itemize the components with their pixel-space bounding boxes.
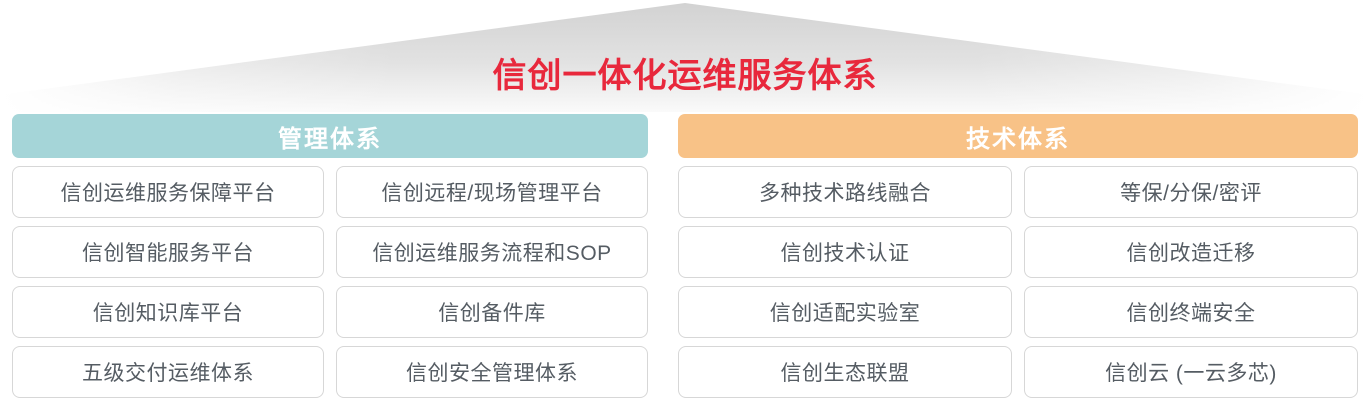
cell-item[interactable]: 等保/分保/密评 [1024,166,1358,218]
panel-technology: 技术体系 多种技术路线融合 等保/分保/密评 信创技术认证 信创改造迁移 信创适… [660,114,1370,398]
cell-item[interactable]: 信创云 (一云多芯) [1024,346,1358,398]
cell-item[interactable]: 信创技术认证 [678,226,1012,278]
panel-management: 管理体系 信创运维服务保障平台 信创远程/现场管理平台 信创智能服务平台 信创运… [0,114,660,398]
cell-item[interactable]: 信创终端安全 [1024,286,1358,338]
cell-item[interactable]: 多种技术路线融合 [678,166,1012,218]
panel-header-management: 管理体系 [12,114,648,158]
cell-item[interactable]: 信创运维服务流程和SOP [336,226,648,278]
cell-item[interactable]: 信创运维服务保障平台 [12,166,324,218]
cell-item[interactable]: 信创智能服务平台 [12,226,324,278]
cell-item[interactable]: 信创生态联盟 [678,346,1012,398]
page-title: 信创一体化运维服务体系 [0,54,1370,98]
cell-item[interactable]: 信创远程/现场管理平台 [336,166,648,218]
cell-item[interactable]: 信创备件库 [336,286,648,338]
cell-item[interactable]: 信创改造迁移 [1024,226,1358,278]
cell-grid-management: 信创运维服务保障平台 信创远程/现场管理平台 信创智能服务平台 信创运维服务流程… [12,166,648,398]
cell-item[interactable]: 信创安全管理体系 [336,346,648,398]
systems-container: 管理体系 信创运维服务保障平台 信创远程/现场管理平台 信创智能服务平台 信创运… [0,114,1370,418]
cell-item[interactable]: 信创知识库平台 [12,286,324,338]
cell-item[interactable]: 信创适配实验室 [678,286,1012,338]
panel-header-technology: 技术体系 [678,114,1358,158]
cell-grid-technology: 多种技术路线融合 等保/分保/密评 信创技术认证 信创改造迁移 信创适配实验室 … [678,166,1358,398]
cell-item[interactable]: 五级交付运维体系 [12,346,324,398]
